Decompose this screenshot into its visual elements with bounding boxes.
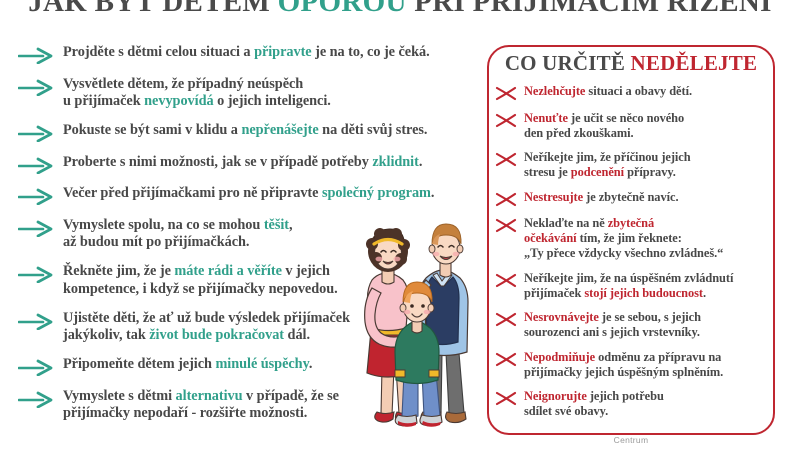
tip-line: Řekněte jim, že je máte rádi a věříte v …	[63, 263, 338, 281]
tip-line: přijímačky nepodaří - rozšiřte možnosti.	[63, 405, 339, 423]
dont-text: Neignorujte jejich potřebusdílet své oba…	[524, 389, 664, 419]
text-segment: jejich potřebu	[587, 389, 664, 403]
tip-line: Připomeňte dětem jejich minulé úspěchy.	[63, 356, 312, 374]
page-title-part1: JAK BÝT DĚTEM	[28, 0, 277, 18]
dont-line: Nenuťte je učit se něco nového	[524, 111, 684, 126]
arrow-right-icon	[18, 220, 54, 237]
dont-item: Nezlehčujte situaci a obavy dětí.	[495, 84, 771, 101]
text-segment: Nezlehčujte	[524, 84, 585, 98]
dont-text: Neříkejte jim, že příčinou jejichstresu …	[524, 150, 691, 180]
tip-line: Vymyslete spolu, na co se mohou těšit,	[63, 217, 293, 235]
dont-item: Nenuťte je učit se něco novéhoden před z…	[495, 111, 771, 141]
cross-x-icon	[495, 312, 517, 327]
text-segment: Vysvětlete dětem, že případný neúspěch	[63, 76, 303, 92]
tip-text: Připomeňte dětem jejich minulé úspěchy.	[63, 356, 312, 374]
page-title-part2: PŘI PŘIJÍMACÍM ŘÍZENÍ	[407, 0, 772, 18]
dont-text: Nestresujte je zbytečně navíc.	[524, 190, 679, 205]
text-segment: přijímačky nepodaří - rozšiřte možnosti.	[63, 405, 307, 421]
dont-heading-part1: CO URČITĚ	[505, 51, 631, 75]
dont-line: Nezlehčujte situaci a obavy dětí.	[524, 84, 692, 99]
text-segment: situaci a obavy dětí.	[585, 84, 692, 98]
text-segment: Neignorujte	[524, 389, 587, 403]
text-segment: Pokuste se být sami v klidu a	[63, 122, 241, 138]
text-segment: kompetence, i když se přijímačky nepoved…	[63, 281, 338, 297]
dont-line: Neříkejte jim, že na úspěšném zvládnutí	[524, 271, 733, 286]
text-segment: stojí jejich budoucnost	[584, 286, 703, 300]
text-segment: Nestresujte	[524, 190, 583, 204]
arrow-right-icon	[18, 266, 54, 283]
tip-line: Vymyslete s dětmi alternativu v případě,…	[63, 388, 339, 406]
tip-text: Vysvětlete dětem, že případný neúspěchu …	[63, 76, 331, 111]
text-segment: Projděte s dětmi celou situaci a	[63, 44, 254, 60]
tip-line: Vysvětlete dětem, že případný neúspěch	[63, 76, 331, 94]
dont-line: Neklaďte na ně zbytečná	[524, 216, 723, 231]
text-segment: podcenění	[571, 165, 624, 179]
dont-line: sdílet své obavy.	[524, 404, 664, 419]
arrow-right-icon	[18, 391, 54, 408]
text-segment: odměnu za přípravu na	[595, 350, 721, 364]
dont-text: Neříkejte jim, že na úspěšném zvládnutíp…	[524, 271, 733, 301]
tip-line: Pokuste se být sami v klidu a nepřenášej…	[63, 122, 427, 140]
dont-list: Nezlehčujte situaci a obavy dětí.Nenuťte…	[495, 84, 771, 429]
text-segment: Nepodmiňuje	[524, 350, 595, 364]
dont-item: Neříkejte jim, že na úspěšném zvládnutíp…	[495, 271, 771, 301]
text-segment: .	[309, 356, 313, 372]
dont-item: Neříkejte jim, že příčinou jejichstresu …	[495, 150, 771, 180]
text-segment: v jejich	[282, 263, 330, 279]
arrow-right-icon	[18, 313, 54, 330]
text-segment: nevypovídá	[144, 93, 213, 109]
dont-heading-red: NEDĚLEJTE	[631, 51, 758, 75]
text-segment: dál.	[284, 327, 310, 343]
page-title: JAK BÝT DĚTEM OPOROU PŘI PŘIJÍMACÍM ŘÍZE…	[0, 0, 800, 19]
dont-line: přijímačky jejich úspěšným splněním.	[524, 365, 723, 380]
arrow-right-icon	[18, 157, 54, 174]
text-segment: Vymyslete s dětmi	[63, 388, 176, 404]
dont-text: Neklaďte na ně zbytečnáočekávání tím, že…	[524, 216, 723, 261]
text-segment: .	[431, 185, 435, 201]
tip-text: Řekněte jim, že je máte rádi a věříte v …	[63, 263, 338, 298]
text-segment: nepřenášejte	[241, 122, 318, 138]
text-segment: přípravy.	[624, 165, 676, 179]
cross-x-icon	[495, 152, 517, 167]
tip-text: Večer před přijímačkami pro ně připravte…	[63, 185, 434, 203]
dont-text: Nenuťte je učit se něco novéhoden před z…	[524, 111, 684, 141]
text-segment: den před zkouškami.	[524, 126, 634, 140]
tip-line: kompetence, i když se přijímačky nepoved…	[63, 281, 338, 299]
text-segment: Večer před přijímačkami pro ně připravte	[63, 185, 322, 201]
text-segment: Neklaďte na ně	[524, 216, 608, 230]
arrow-right-icon	[18, 79, 54, 96]
text-segment: jakýkoliv, tak	[63, 327, 149, 343]
tip-text: Projděte s dětmi celou situaci a připrav…	[63, 44, 430, 62]
text-segment: .	[419, 154, 423, 170]
cross-x-icon	[495, 391, 517, 406]
text-segment: Nenuťte	[524, 111, 568, 125]
text-segment: ,	[289, 217, 293, 233]
dont-line: „Ty přece vždycky všechno zvládneš.“	[524, 246, 723, 261]
tip-text: Pokuste se být sami v klidu a nepřenášej…	[63, 122, 427, 140]
dont-item: Nesrovnávejte je se sebou, s jejichsouro…	[495, 310, 771, 340]
tip-item: Vysvětlete dětem, že případný neúspěchu …	[18, 76, 478, 111]
dont-line: Neříkejte jim, že příčinou jejich	[524, 150, 691, 165]
cross-x-icon	[495, 192, 517, 207]
text-segment: Vymyslete spolu, na co se mohou	[63, 217, 264, 233]
tip-item: Proberte s nimi možnosti, jak se v přípa…	[18, 154, 478, 174]
text-segment: tím, že jim řeknete:	[577, 231, 682, 245]
text-segment: „Ty přece vždycky všechno zvládneš.“	[524, 246, 723, 260]
dont-line: přijímaček stojí jejich budoucnost.	[524, 286, 733, 301]
text-segment: až budou mít po přijímačkách.	[63, 234, 249, 250]
cross-x-icon	[495, 113, 517, 128]
tip-text: Vymyslete s dětmi alternativu v případě,…	[63, 388, 339, 423]
tip-text: Ujistěte děti, že ať už bude výsledek př…	[63, 310, 350, 345]
dont-line: Nestresujte je zbytečně navíc.	[524, 190, 679, 205]
text-segment: zklidnit	[372, 154, 418, 170]
tip-text: Proberte s nimi možnosti, jak se v přípa…	[63, 154, 422, 172]
text-segment: Řekněte jim, že je	[63, 263, 174, 279]
arrow-right-icon	[18, 47, 54, 64]
footer-brand: Centrum	[487, 435, 775, 445]
text-segment: těšit	[264, 217, 289, 233]
family-illustration	[352, 218, 487, 443]
text-segment: Proberte s nimi možnosti, jak se v přípa…	[63, 154, 372, 170]
text-segment: máte rádi a věříte	[174, 263, 281, 279]
text-segment: Nesrovnávejte	[524, 310, 599, 324]
dont-line: sourozenci ani s jejich vrstevníky.	[524, 325, 701, 340]
dont-item: Nestresujte je zbytečně navíc.	[495, 190, 771, 207]
text-segment: je na to, co je čeká.	[312, 44, 430, 60]
dont-text: Nepodmiňuje odměnu za přípravu napřijíma…	[524, 350, 723, 380]
cross-x-icon	[495, 86, 517, 101]
dont-text: Nesrovnávejte je se sebou, s jejichsouro…	[524, 310, 701, 340]
text-segment: stresu je	[524, 165, 571, 179]
tip-line: jakýkoliv, tak život bude pokračovat dál…	[63, 327, 350, 345]
tip-text: Vymyslete spolu, na co se mohou těšit,až…	[63, 217, 293, 252]
text-segment: je zbytečně navíc.	[583, 190, 678, 204]
cross-x-icon	[495, 218, 517, 233]
dont-line: den před zkouškami.	[524, 126, 684, 141]
text-segment: sourozenci ani s jejich vrstevníky.	[524, 325, 700, 339]
dont-item: Neklaďte na ně zbytečnáočekávání tím, že…	[495, 216, 771, 261]
tip-line: u přijímaček nevypovídá o jejich intelig…	[63, 93, 331, 111]
text-segment: alternativu	[176, 388, 243, 404]
tip-item: Pokuste se být sami v klidu a nepřenášej…	[18, 122, 478, 142]
dont-line: Neignorujte jejich potřebu	[524, 389, 664, 404]
text-segment: je učit se něco nového	[568, 111, 684, 125]
cross-x-icon	[495, 273, 517, 288]
text-segment: sdílet své obavy.	[524, 404, 608, 418]
dont-line: očekávání tím, že jim řeknete:	[524, 231, 723, 246]
dont-panel-heading: CO URČITĚ NEDĚLEJTE	[487, 51, 775, 76]
text-segment: společný program	[322, 185, 431, 201]
dont-item: Nepodmiňuje odměnu za přípravu napřijíma…	[495, 350, 771, 380]
dont-item: Neignorujte jejich potřebusdílet své oba…	[495, 389, 771, 419]
dont-line: Nepodmiňuje odměnu za přípravu na	[524, 350, 723, 365]
dont-line: Nesrovnávejte je se sebou, s jejich	[524, 310, 701, 325]
text-segment: je se sebou, s jejich	[599, 310, 701, 324]
arrow-right-icon	[18, 125, 54, 142]
text-segment: v případě, že se	[243, 388, 339, 404]
text-segment: připravte	[254, 44, 312, 60]
text-segment: zbytečná	[608, 216, 654, 230]
text-segment: život bude pokračovat	[149, 327, 284, 343]
tip-line: Proberte s nimi možnosti, jak se v přípa…	[63, 154, 422, 172]
text-segment: na děti svůj stres.	[319, 122, 428, 138]
page-title-accent: OPOROU	[278, 0, 407, 18]
tip-item: Večer před přijímačkami pro ně připravte…	[18, 185, 478, 205]
text-segment: očekávání	[524, 231, 577, 245]
text-segment: Ujistěte děti, že ať už bude výsledek př…	[63, 310, 350, 326]
text-segment: Neříkejte jim, že na úspěšném zvládnutí	[524, 271, 733, 285]
arrow-right-icon	[18, 188, 54, 205]
tip-line: Ujistěte děti, že ať už bude výsledek př…	[63, 310, 350, 328]
text-segment: minulé úspěchy	[215, 356, 308, 372]
arrow-right-icon	[18, 359, 54, 376]
text-segment: u přijímaček	[63, 93, 144, 109]
cross-x-icon	[495, 352, 517, 367]
tip-item: Projděte s dětmi celou situaci a připrav…	[18, 44, 478, 64]
text-segment: o jejich inteligenci.	[214, 93, 331, 109]
text-segment: Neříkejte jim, že příčinou jejich	[524, 150, 691, 164]
tip-line: Večer před přijímačkami pro ně připravte…	[63, 185, 434, 203]
tip-line: Projděte s dětmi celou situaci a připrav…	[63, 44, 430, 62]
text-segment: přijímaček	[524, 286, 584, 300]
infographic-page: JAK BÝT DĚTEM OPOROU PŘI PŘIJÍMACÍM ŘÍZE…	[0, 0, 800, 450]
dont-text: Nezlehčujte situaci a obavy dětí.	[524, 84, 692, 99]
text-segment: .	[703, 286, 706, 300]
tip-line: až budou mít po přijímačkách.	[63, 234, 293, 252]
text-segment: Připomeňte dětem jejich	[63, 356, 215, 372]
text-segment: přijímačky jejich úspěšným splněním.	[524, 365, 723, 379]
dont-line: stresu je podcenění přípravy.	[524, 165, 691, 180]
